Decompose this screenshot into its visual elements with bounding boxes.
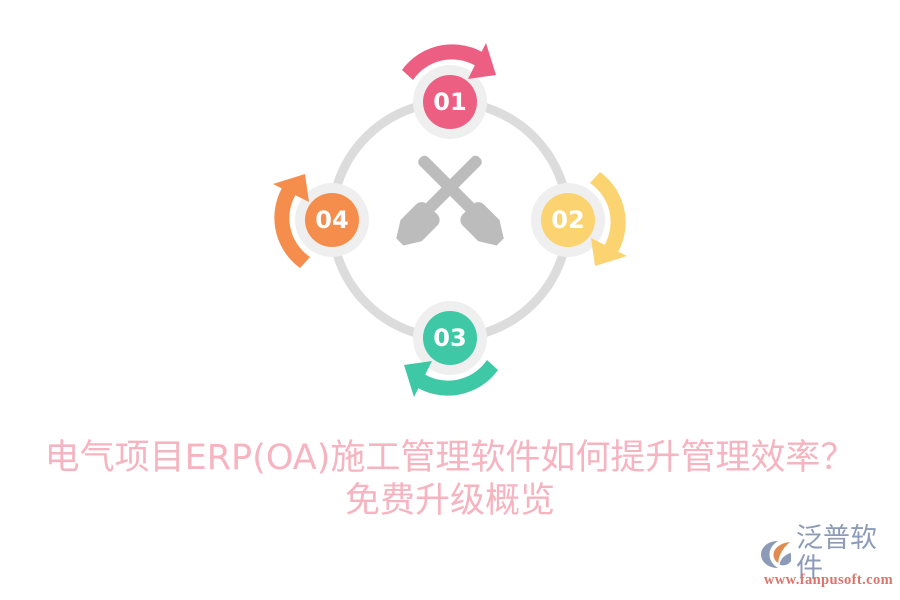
page-title: 电气项目ERP(OA)施工管理软件如何提升管理效率？ 免费升级概览: [0, 437, 900, 522]
crossed-hammers-icon: [389, 149, 511, 252]
page-title-line-1: 电气项目ERP(OA)施工管理软件如何提升管理效率？: [0, 437, 900, 480]
step-01-label: 01: [433, 88, 466, 116]
four-step-cycle-diagram: 01 02 03: [265, 35, 635, 405]
brand-logo[interactable]: 泛普软件 www.fanpusoft.com: [760, 536, 895, 594]
step-02-label: 02: [551, 206, 584, 234]
fanpu-logo-icon: [760, 539, 794, 569]
step-03-label: 03: [433, 324, 466, 352]
brand-logo-top: 泛普软件: [760, 536, 895, 572]
step-04-label: 04: [315, 206, 348, 234]
page-title-line-2: 免费升级概览: [0, 480, 900, 523]
page-canvas: 01 02 03: [0, 0, 900, 600]
brand-url: www.fanpusoft.com: [760, 572, 895, 589]
